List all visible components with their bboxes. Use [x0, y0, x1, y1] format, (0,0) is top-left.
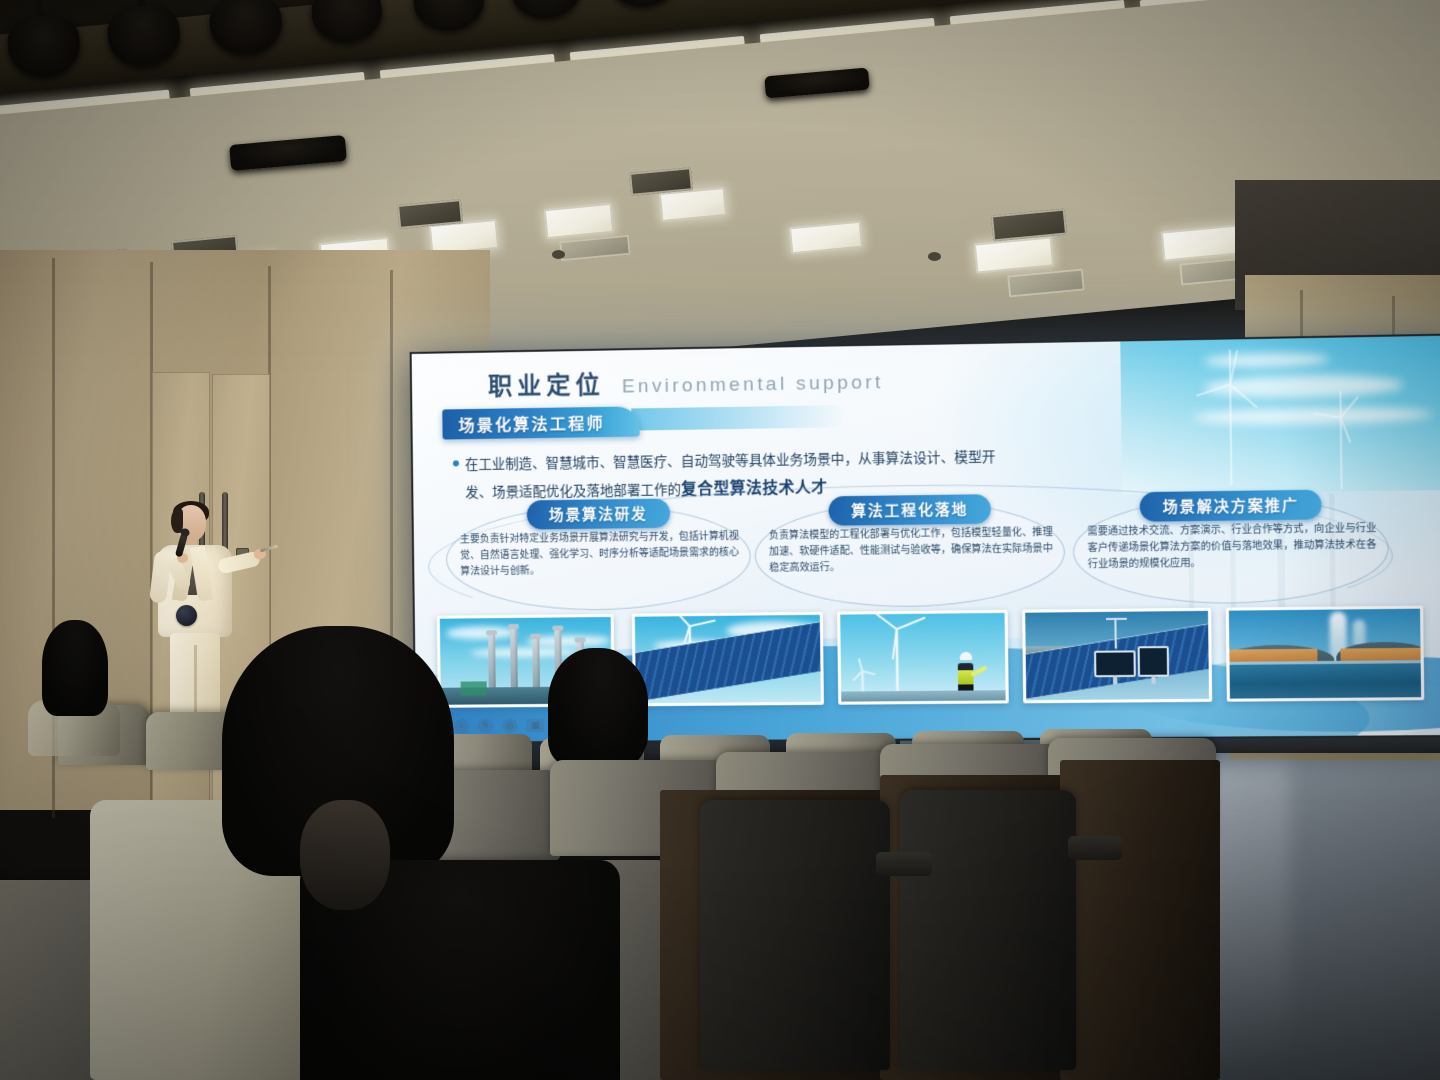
smokestack: [488, 634, 496, 690]
card-title-pill: 算法工程化落地: [828, 494, 991, 526]
photo-geothermal-field: [1226, 606, 1425, 702]
page-subtitle: Environmental support: [622, 372, 884, 399]
wooden-seat-frame: [1060, 760, 1220, 1080]
audience-member-hand: [300, 800, 390, 910]
geothermal-pool: [1229, 660, 1421, 699]
card-title-pill: 场景算法研发: [527, 499, 670, 530]
all-slides-icon[interactable]: ▦: [526, 719, 544, 732]
role-card: 场景算法研发 主要负责针对特定业务场景开展算法研究与开发，包括计算机视觉、自然语…: [451, 502, 747, 618]
card-title-pill: 场景解决方案推广: [1140, 490, 1323, 522]
audience-member: [42, 620, 108, 716]
smokestack: [510, 628, 518, 690]
card-title-label: 算法工程化落地: [851, 503, 968, 521]
monitor-screen: [1094, 650, 1136, 677]
presenter-badge: [176, 605, 197, 626]
page-title: 职业定位: [488, 365, 605, 402]
role-ribbon-banner: 场景化算法工程师: [442, 406, 639, 439]
laser-pointer-icon[interactable]: ◎: [502, 718, 517, 733]
card-title-label: 场景算法研发: [549, 507, 648, 524]
role-ribbon-label: 场景化算法工程师: [458, 410, 605, 436]
next-slide-icon[interactable]: ›: [454, 719, 469, 734]
ribbon-tail-decoration: [631, 405, 845, 431]
smoke-detector-icon: [552, 250, 565, 259]
pen-icon[interactable]: ✎: [478, 718, 493, 733]
auditorium-scene: 职业定位 Environmental support 场景化算法工程师 在工业制…: [0, 0, 1440, 1080]
role-card: 算法工程化落地 负责算法模型的工程化部署与优化工作，包括模型轻量化、推理加速、软…: [760, 497, 1061, 614]
role-card: 场景解决方案推广 需要通过技术交流、方案演示、行业合作等方式，向企业与行业客户传…: [1079, 493, 1386, 611]
audience-member: [556, 652, 648, 760]
card-body-text: 需要通过技术交流、方案演示、行业合作等方式，向企业与行业客户传递场景化算法方案的…: [1087, 521, 1378, 574]
photo-solar-farm-wind: [632, 612, 824, 707]
seat-armrest: [1068, 836, 1122, 860]
photo-solar-monitoring-station: [1022, 608, 1212, 704]
auditorium-seat: [700, 800, 890, 1070]
card-title-label: 场景解决方案推广: [1163, 498, 1299, 516]
card-body-text: 主要负责针对特定业务场景开展算法研究与开发，包括计算机视觉、自然语言处理、强化学…: [460, 529, 741, 581]
wind-turbine-watermark: [1214, 349, 1247, 485]
photo-engineer-wind-turbine: [837, 610, 1009, 705]
card-body-text: 负责算法模型的工程化部署与优化工作，包括模型轻量化、推理加速、软硬件适配、性能测…: [769, 525, 1055, 577]
smoke-detector-icon: [928, 252, 941, 261]
wind-turbine: [869, 620, 925, 696]
bullet-dot-icon: [453, 460, 459, 466]
slide-title-row: 职业定位 Environmental support: [488, 360, 884, 402]
intro-line-1: 在工业制造、智慧城市、智慧医疗、自动驾驶等具体业务场景中，从事算法设计、模型开: [465, 450, 996, 473]
auditorium-seat: [900, 790, 1076, 1070]
wind-turbine-watermark: [1328, 391, 1354, 490]
monitor-screen: [1138, 646, 1170, 677]
role-cards-group: 场景算法研发 主要负责针对特定业务场景开展算法研究与开发，包括计算机视觉、自然语…: [437, 492, 1427, 615]
ceiling-panel-light: [544, 203, 615, 239]
smokestack: [532, 638, 540, 690]
seat-armrest: [876, 852, 932, 876]
